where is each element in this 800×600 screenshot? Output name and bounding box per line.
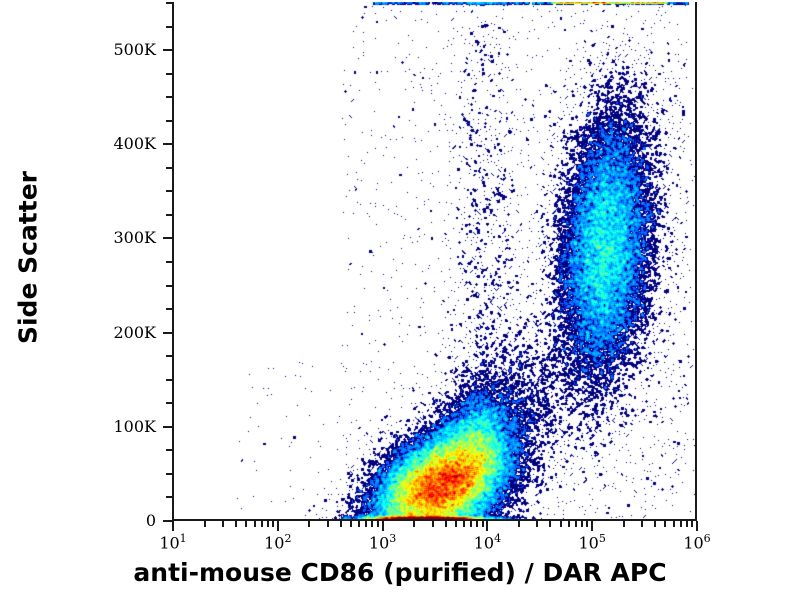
- x-tick-minor: [463, 521, 465, 527]
- x-tick-minor: [686, 521, 688, 527]
- x-tick-label: 105: [552, 532, 632, 552]
- x-tick-minor: [476, 521, 478, 527]
- x-tick-minor: [549, 521, 551, 527]
- x-tick-label: 101: [133, 532, 213, 552]
- x-tick-minor: [560, 521, 562, 527]
- x-tick-minor: [245, 521, 247, 527]
- x-tick-minor: [581, 521, 583, 527]
- x-tick-major: [591, 521, 593, 531]
- x-tick-minor: [586, 521, 588, 527]
- x-tick-minor: [254, 521, 256, 527]
- y-axis-title: Side Scatter: [14, 78, 43, 438]
- density-scatter-canvas: [174, 2, 695, 519]
- x-tick-minor: [641, 521, 643, 527]
- x-tick-minor: [691, 521, 693, 527]
- x-tick-minor: [327, 521, 329, 527]
- x-tick-minor: [365, 521, 367, 527]
- x-tick-label: 104: [447, 532, 527, 552]
- y-tick-label: 500K: [94, 40, 156, 59]
- x-tick-major: [382, 521, 384, 531]
- x-tick-label: 103: [343, 532, 423, 552]
- x-tick-minor: [654, 521, 656, 527]
- x-tick-minor: [518, 521, 520, 527]
- x-tick-minor: [267, 521, 269, 527]
- x-tick-label: 102: [238, 532, 318, 552]
- x-tick-minor: [470, 521, 472, 527]
- x-axis-title: anti-mouse CD86 (purified) / DAR APC: [0, 558, 800, 587]
- x-tick-minor: [575, 521, 577, 527]
- x-tick-minor: [664, 521, 666, 527]
- x-tick-minor: [680, 521, 682, 527]
- y-tick-label: 0: [94, 511, 156, 530]
- x-tick-major: [172, 521, 174, 531]
- x-tick-minor: [536, 521, 538, 527]
- x-tick-minor: [413, 521, 415, 527]
- x-tick-minor: [455, 521, 457, 527]
- y-tick-label: 200K: [94, 323, 156, 342]
- x-tick-minor: [568, 521, 570, 527]
- x-tick-minor: [235, 521, 237, 527]
- x-tick-major: [696, 521, 698, 531]
- x-tick-minor: [340, 521, 342, 527]
- y-tick-label: 300K: [94, 228, 156, 247]
- y-tick-label: 400K: [94, 134, 156, 153]
- x-tick-minor: [204, 521, 206, 527]
- x-tick-major: [277, 521, 279, 531]
- x-tick-minor: [371, 521, 373, 527]
- x-tick-label: 106: [657, 532, 737, 552]
- x-tick-major: [486, 521, 488, 531]
- x-tick-minor: [673, 521, 675, 527]
- x-tick-minor: [377, 521, 379, 527]
- x-tick-minor: [623, 521, 625, 527]
- x-tick-minor: [261, 521, 263, 527]
- x-tick-minor: [350, 521, 352, 527]
- x-tick-minor: [358, 521, 360, 527]
- x-tick-minor: [308, 521, 310, 527]
- y-tick-label: 100K: [94, 417, 156, 436]
- x-tick-minor: [482, 521, 484, 527]
- x-tick-minor: [432, 521, 434, 527]
- x-tick-minor: [445, 521, 447, 527]
- y-axis-tick-labels: 0100K200K300K400K500K: [94, 0, 156, 600]
- plot-area: [172, 2, 697, 521]
- x-tick-minor: [272, 521, 274, 527]
- flow-cytometry-figure: Side Scatter 0100K200K300K400K500K 10110…: [0, 0, 800, 600]
- x-tick-minor: [222, 521, 224, 527]
